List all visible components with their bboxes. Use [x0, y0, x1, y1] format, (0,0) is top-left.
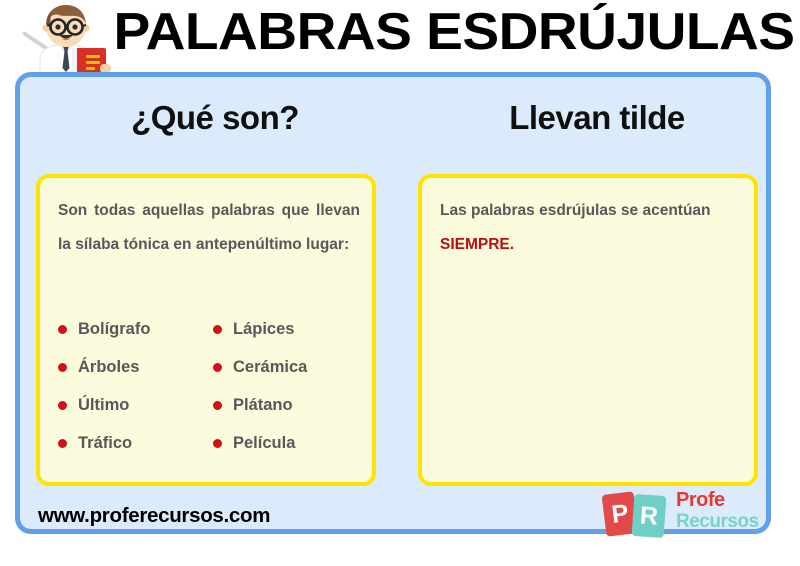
rule-text: Las palabras esdrújulas se acentúan SIEM…: [440, 194, 742, 262]
list-item: Cerámica: [213, 348, 368, 386]
brand-logo: P R Profe Recursos: [604, 487, 772, 539]
word-label: Tráfico: [78, 434, 132, 453]
word-label: Árboles: [78, 358, 139, 377]
list-item: Lápices: [213, 310, 368, 348]
page-title: PALABRAS ESDRÚJULAS: [91, 1, 800, 63]
content-panel: ¿Qué son? Son todas aquellas palabras qu…: [15, 72, 771, 534]
list-item: Tráfico: [58, 424, 213, 462]
bullet-icon: [58, 325, 67, 334]
bullet-icon: [58, 401, 67, 410]
logo-tile-r: R: [632, 494, 667, 538]
list-item: Bolígrafo: [58, 310, 213, 348]
list-item: Película: [213, 424, 368, 462]
list-item: Plátano: [213, 386, 368, 424]
bullet-icon: [213, 439, 222, 448]
bullet-icon: [213, 363, 222, 372]
section-heading-llevan-tilde: Llevan tilde: [418, 98, 776, 138]
definition-text: Son todas aquellas palabras que llevan l…: [58, 194, 360, 262]
logo-tiles: P R: [604, 491, 672, 537]
section-heading-que-son: ¿Qué son?: [36, 98, 394, 138]
rule-text-lead: Las palabras esdrújulas se acentúan: [440, 202, 711, 219]
logo-word-profe: Profe: [676, 489, 772, 511]
logo-wordmark: Profe Recursos: [676, 489, 772, 533]
column-llevan-tilde: Llevan tilde Las palabras esdrújulas se …: [418, 77, 776, 529]
word-column-1: Bolígrafo Árboles Último Tráfico: [58, 310, 213, 462]
list-item: Árboles: [58, 348, 213, 386]
bullet-icon: [213, 325, 222, 334]
panel-columns: ¿Qué son? Son todas aquellas palabras qu…: [20, 77, 766, 529]
column-que-son: ¿Qué son? Son todas aquellas palabras qu…: [36, 77, 394, 529]
example-word-lists: Bolígrafo Árboles Último Tráfico: [58, 310, 368, 462]
word-label: Bolígrafo: [78, 320, 150, 339]
word-label: Plátano: [233, 396, 293, 415]
word-label: Lápices: [233, 320, 294, 339]
rule-text-emphasis: SIEMPRE.: [440, 236, 514, 253]
list-item: Último: [58, 386, 213, 424]
card-rule: Las palabras esdrújulas se acentúan SIEM…: [418, 174, 758, 486]
page-header: PALABRAS ESDRÚJULAS: [0, 0, 800, 72]
bullet-icon: [58, 363, 67, 372]
word-label: Cerámica: [233, 358, 307, 377]
word-column-2: Lápices Cerámica Plátano Película: [213, 310, 368, 462]
logo-word-recursos: Recursos: [676, 511, 772, 533]
word-label: Película: [233, 434, 295, 453]
website-url: www.proferecursos.com: [38, 504, 270, 528]
card-definition: Son todas aquellas palabras que llevan l…: [36, 174, 376, 486]
bullet-icon: [58, 439, 67, 448]
word-label: Último: [78, 396, 129, 415]
bullet-icon: [213, 401, 222, 410]
